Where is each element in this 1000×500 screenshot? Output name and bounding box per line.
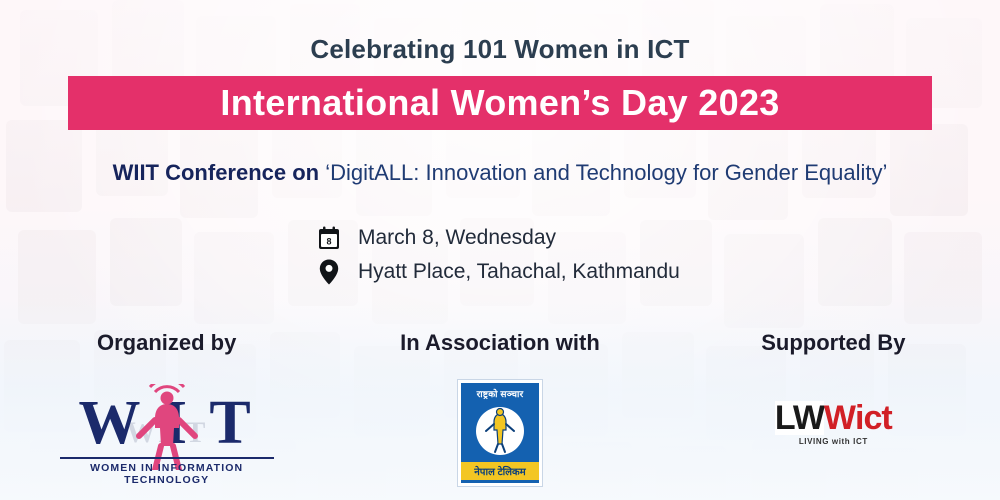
poster-content: Celebrating 101 Women in ICT Internation… xyxy=(0,0,1000,500)
conference-subtitle: WIIT Conference on ‘DigitALL: Innovation… xyxy=(0,160,1000,186)
lwict-w-text: W xyxy=(824,401,855,435)
in-association-with-col: In Association with xyxy=(333,330,666,356)
lwict-ict-text: ict xyxy=(855,401,892,435)
banner-title: International Women’s Day 2023 xyxy=(220,82,779,124)
svg-text:8: 8 xyxy=(326,237,331,247)
lwict-lw-text: LW xyxy=(775,401,824,435)
nepal-telecom-bottom-text: नेपाल टेलिकम xyxy=(461,462,539,480)
location-pin-icon xyxy=(312,258,346,286)
organizer-labels-row: Organized by In Association with Support… xyxy=(0,330,1000,356)
event-location-row: Hyatt Place, Tahachal, Kathmandu xyxy=(0,258,1000,286)
title-banner: International Women’s Day 2023 xyxy=(68,76,932,130)
logos-row: WIIT W I T WOMEN IN INFORMATION TECHNOLO… xyxy=(0,368,1000,498)
lwict-subtitle: LIVING with ICT xyxy=(763,437,903,446)
nepal-telecom-logo-col: राष्ट्रको सञ्चार नेपाल टेलिकम xyxy=(333,368,666,498)
wiit-tagline: WOMEN IN INFORMATION TECHNOLOGY xyxy=(60,457,274,486)
nepal-telecom-logo: राष्ट्रको सञ्चार नेपाल टेलिकम xyxy=(458,380,542,486)
poster-canvas: Celebrating 101 Women in ICT Internation… xyxy=(0,0,1000,500)
event-date-row: 8 March 8, Wednesday xyxy=(0,226,1000,250)
in-association-with-label: In Association with xyxy=(333,330,666,356)
event-details: 8 March 8, Wednesday Hyatt Place, Tahach… xyxy=(0,226,1000,294)
supported-by-label: Supported By xyxy=(667,330,1000,356)
lwict-logo: LWWict LIVING with ICT xyxy=(763,401,903,465)
organized-by-col: Organized by xyxy=(0,330,333,356)
wiit-logo-col: WIIT W I T WOMEN IN INFORMATION TECHNOLO… xyxy=(0,368,333,498)
subtitle-theme-part: ‘DigitALL: Innovation and Technology for… xyxy=(319,160,887,185)
lwict-logo-col: LWWict LIVING with ICT xyxy=(667,368,1000,498)
supported-by-col: Supported By xyxy=(667,330,1000,356)
wiit-logo: W I T WOMEN IN INFORMATION TECHNOLOGY xyxy=(52,378,282,488)
calendar-icon: 8 xyxy=(312,226,346,250)
event-date-text: March 8, Wednesday xyxy=(358,226,688,250)
subtitle-bold-part: WIIT Conference on xyxy=(113,160,320,185)
nepal-telecom-top-text: राष्ट्रको सञ्चार xyxy=(477,387,524,400)
event-location-text: Hyatt Place, Tahachal, Kathmandu xyxy=(358,260,688,284)
poster-tagline: Celebrating 101 Women in ICT xyxy=(0,34,1000,65)
nepal-telecom-emblem-icon xyxy=(473,404,527,458)
organized-by-label: Organized by xyxy=(0,330,333,356)
